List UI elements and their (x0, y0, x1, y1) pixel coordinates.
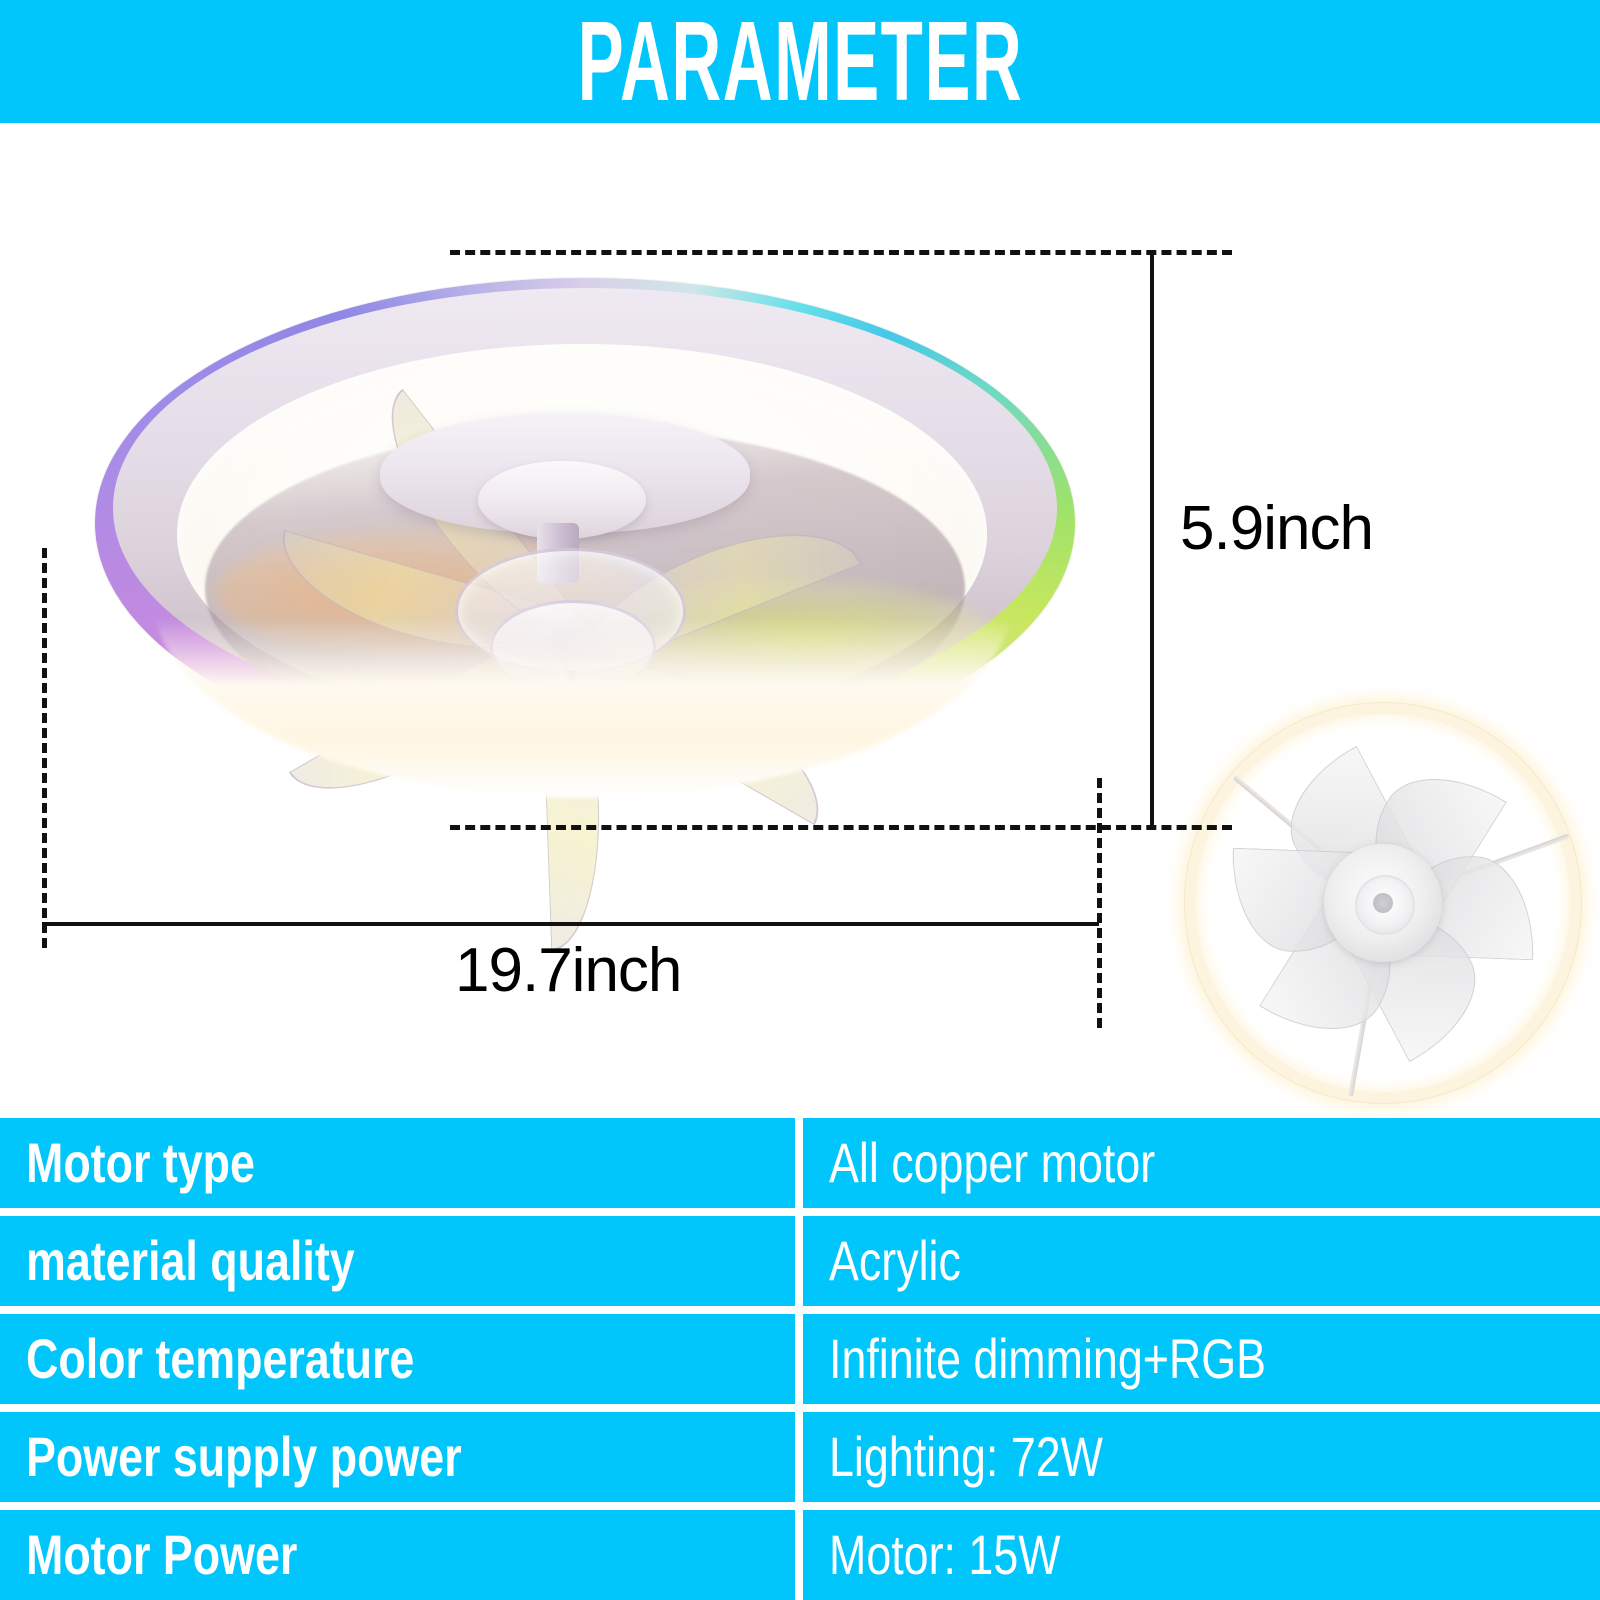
dimension-guide-left (42, 548, 47, 948)
spec-value-label: Acrylic (829, 1233, 961, 1289)
header-banner: PARAMETER (0, 0, 1600, 123)
spec-key-label: Color temperature (26, 1331, 414, 1387)
spec-key-label: Power supply power (26, 1429, 462, 1485)
table-row: Motor type All copper motor (0, 1118, 1600, 1208)
dimension-guide-right (1097, 778, 1102, 1028)
product-hero-area: 5.9inch 19.7inch (0, 123, 1600, 1118)
diffuser-glow-lip (153, 398, 1013, 798)
width-dimension-label: 19.7inch (455, 935, 681, 1006)
dimension-guide-bottom (450, 825, 1232, 830)
product-inset-image (1185, 703, 1585, 1111)
spec-key-cell: Color temperature (0, 1314, 795, 1404)
table-row: Color temperature Infinite dimming+RGB (0, 1314, 1600, 1404)
spec-value-label: All copper motor (829, 1135, 1155, 1191)
spec-value-cell: Motor: 15W (803, 1510, 1600, 1600)
table-row: material quality Acrylic (0, 1216, 1600, 1306)
page-title: PARAMETER (577, 5, 1023, 118)
spec-table: Motor type All copper motor material qua… (0, 1118, 1600, 1600)
spec-key-cell: Motor type (0, 1118, 795, 1208)
spec-value-label: Motor: 15W (829, 1527, 1061, 1583)
table-row: Motor Power Motor: 15W (0, 1510, 1600, 1600)
spec-key-cell: material quality (0, 1216, 795, 1306)
product-main-image (95, 278, 1075, 798)
height-dimension-label: 5.9inch (1180, 493, 1373, 564)
spec-key-label: Motor type (26, 1135, 255, 1191)
spec-key-label: Motor Power (26, 1527, 297, 1583)
inset-hub-core (1373, 893, 1393, 913)
spec-key-cell: Power supply power (0, 1412, 795, 1502)
spec-value-cell: Lighting: 72W (803, 1412, 1600, 1502)
spec-value-cell: Acrylic (803, 1216, 1600, 1306)
dimension-guide-top (450, 250, 1232, 255)
width-dimension-line (42, 922, 1099, 926)
spec-value-label: Lighting: 72W (829, 1429, 1103, 1485)
spec-key-cell: Motor Power (0, 1510, 795, 1600)
table-row: Power supply power Lighting: 72W (0, 1412, 1600, 1502)
spec-key-label: material quality (26, 1233, 355, 1289)
spec-value-cell: Infinite dimming+RGB (803, 1314, 1600, 1404)
height-dimension-line (1150, 250, 1154, 827)
spec-value-label: Infinite dimming+RGB (829, 1331, 1266, 1387)
spec-value-cell: All copper motor (803, 1118, 1600, 1208)
